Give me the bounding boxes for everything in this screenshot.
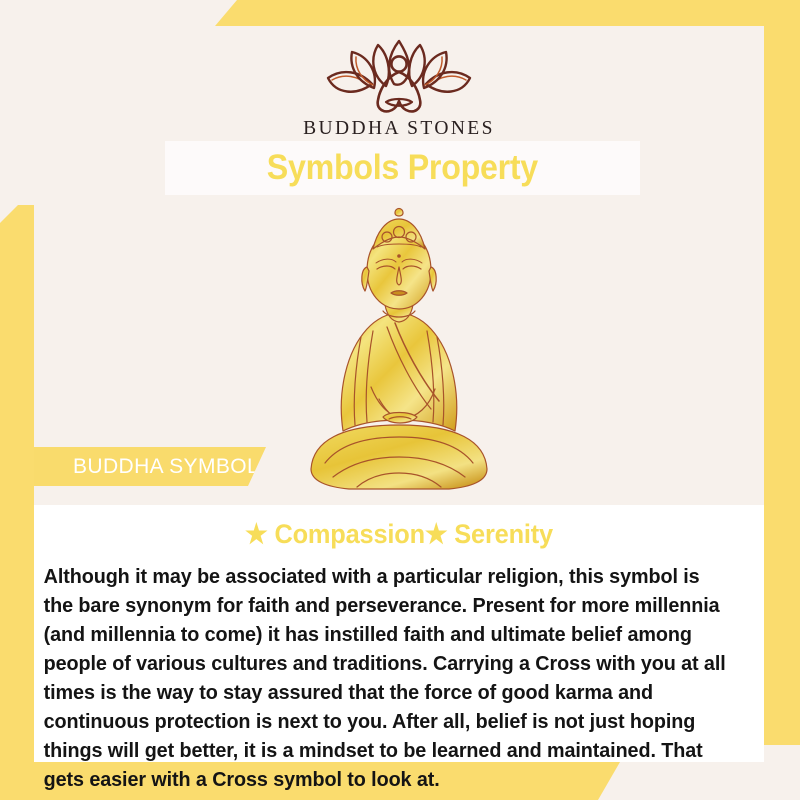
section-badge: BUDDHA SYMBOL <box>34 447 266 486</box>
body-paragraph: Although it may be associated with a par… <box>34 562 738 794</box>
description-panel: ★ Compassion★ Serenity Although it may b… <box>34 505 764 762</box>
section-subtitle: ★ Compassion★ Serenity <box>56 519 742 550</box>
brand-name: BUDDHA STONES <box>303 118 495 140</box>
seated-buddha-statue-icon <box>299 201 499 496</box>
poster-root: BUDDHA STONES Symbols Property <box>0 0 800 800</box>
brand-logo: BUDDHA STONES <box>34 26 764 154</box>
lotus-meditation-figure-icon <box>316 38 482 116</box>
content-card: BUDDHA STONES Symbols Property <box>34 26 764 762</box>
badge-label: BUDDHA SYMBOL <box>73 455 259 479</box>
decoration-bar-left <box>0 205 34 800</box>
title-banner: Symbols Property <box>165 141 640 195</box>
page-title: Symbols Property <box>267 148 538 188</box>
decoration-bar-top <box>215 0 800 26</box>
decoration-bar-right <box>764 0 800 745</box>
